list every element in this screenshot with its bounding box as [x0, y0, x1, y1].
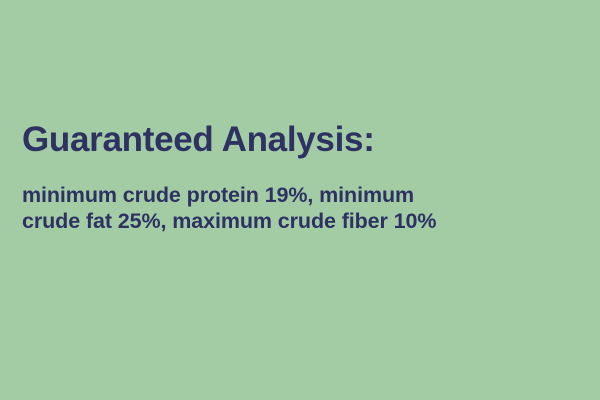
guaranteed-analysis-values: minimum crude protein 19%, minimum crude…: [22, 182, 588, 234]
page-title: Guaranteed Analysis:: [22, 118, 588, 162]
guaranteed-analysis-card: Guaranteed Analysis: minimum crude prote…: [0, 0, 600, 400]
analysis-line-2: crude fat 25%, maximum crude fiber 10%: [22, 208, 588, 234]
analysis-line-1: minimum crude protein 19%, minimum: [22, 182, 588, 208]
text-block: Guaranteed Analysis: minimum crude prote…: [22, 118, 588, 234]
